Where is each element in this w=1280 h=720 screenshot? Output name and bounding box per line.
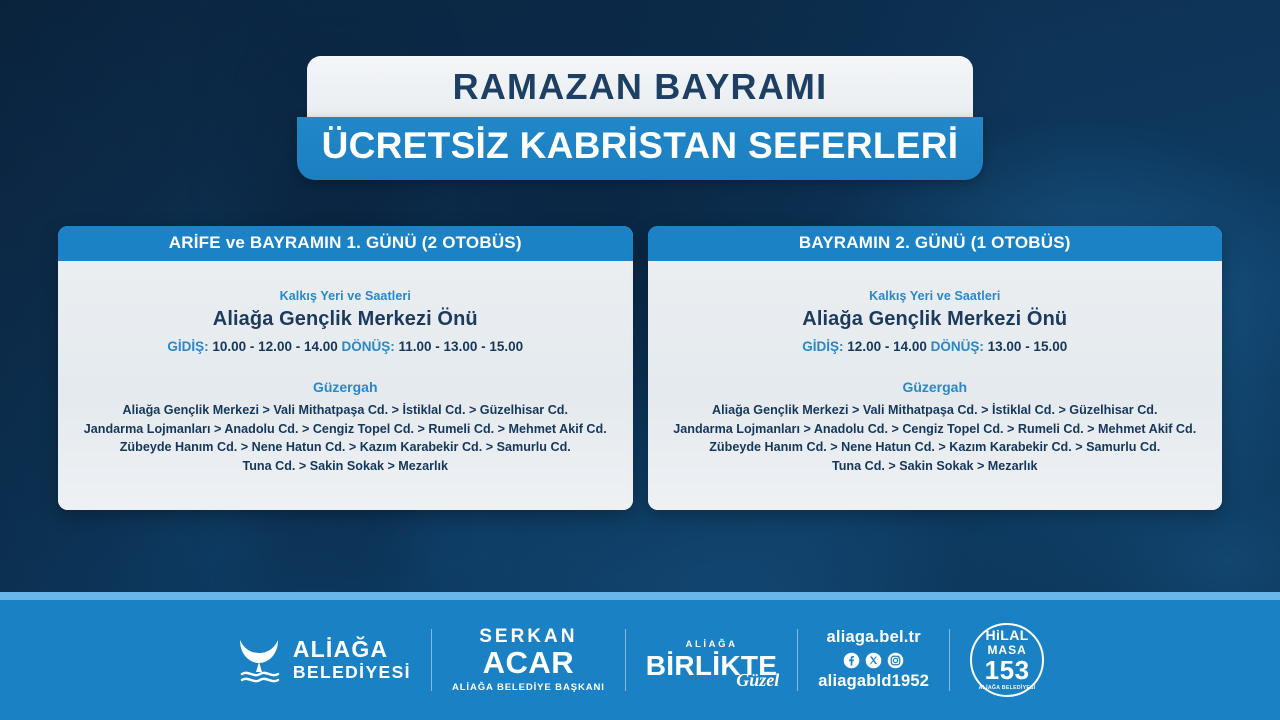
mayor-first-name: SERKAN — [452, 627, 605, 646]
outbound-times-day1: 10.00 - 12.00 - 14.00 — [212, 339, 337, 354]
schedule-cards: ARİFE ve BAYRAMIN 1. GÜNÜ (2 OTOBÜS) Kal… — [58, 226, 1222, 510]
web-and-social: aliaga.bel.tr — [798, 624, 949, 696]
route-line: Aliağa Gençlik Merkezi > Vali Mithatpaşa… — [72, 401, 619, 420]
mayor-title: ALİAĞA BELEDİYE BAŞKANI — [452, 683, 605, 693]
route-line: Jandarma Lojmanları > Anadolu Cd. > Ceng… — [662, 420, 1209, 439]
municipality-name-line2: BELEDİYESİ — [293, 664, 411, 682]
card-body-day1: Kalkış Yeri ve Saatleri Aliağa Gençlik M… — [58, 261, 633, 510]
slogan-script: Güzel — [736, 671, 779, 689]
mayor-last-name: ACAR — [452, 647, 605, 678]
route-line: Zübeyde Hanım Cd. > Nene Hatun Cd. > Kaz… — [72, 438, 619, 457]
title-line2: ÜCRETSİZ KABRİSTAN SEFERLERİ — [322, 125, 959, 166]
schedule-card-day2: BAYRAMIN 2. GÜNÜ (1 OTOBÜS) Kalkış Yeri … — [648, 226, 1223, 510]
mayor-logo: SERKAN ACAR ALİAĞA BELEDİYE BAŞKANI — [432, 624, 625, 696]
slogan-logo: ALİAĞA BİRLİKTE Güzel — [626, 624, 798, 696]
return-label-day2: DÖNÜŞ: — [931, 339, 984, 354]
card-header-day2: BAYRAMIN 2. GÜNÜ (1 OTOBÜS) — [648, 226, 1223, 261]
instagram-icon[interactable] — [887, 652, 904, 669]
footer-bar: ALİAĞA BELEDİYESİ SERKAN ACAR ALİAĞA BEL… — [0, 592, 1280, 720]
route-title-day1: Güzergah — [72, 379, 619, 395]
route-title-day2: Güzergah — [662, 379, 1209, 395]
hotline-logo: HiLAL MASA 153 ALİAĞA BELEDİYESİ — [950, 624, 1064, 696]
title-line1: RAMAZAN BAYRAMI — [453, 66, 828, 107]
title-banner: RAMAZAN BAYRAMI ÜCRETSİZ KABRİSTAN SEFER… — [0, 56, 1280, 180]
website-url[interactable]: aliaga.bel.tr — [818, 628, 929, 648]
hotline-sub: ALİAĞA BELEDİYESİ — [979, 686, 1036, 691]
times-row-day2: GİDİŞ: 12.00 - 14.00 DÖNÜŞ: 13.00 - 15.0… — [662, 339, 1209, 354]
hotline-line1: HiLAL — [986, 628, 1029, 642]
departure-place-day1: Aliağa Gençlik Merkezi Önü — [72, 308, 619, 331]
route-line: Tuna Cd. > Sakin Sokak > Mezarlık — [662, 457, 1209, 476]
return-label-day1: DÖNÜŞ: — [342, 339, 395, 354]
return-times-day2: 13.00 - 15.00 — [988, 339, 1068, 354]
departure-place-day2: Aliağa Gençlik Merkezi Önü — [662, 308, 1209, 331]
hotline-number: 153 — [985, 657, 1030, 683]
title-line1-container: RAMAZAN BAYRAMI — [307, 56, 973, 117]
card-body-day2: Kalkış Yeri ve Saatleri Aliağa Gençlik M… — [648, 261, 1223, 510]
route-line: Aliağa Gençlik Merkezi > Vali Mithatpaşa… — [662, 401, 1209, 420]
facebook-icon[interactable] — [843, 652, 860, 669]
route-line: Jandarma Lojmanları > Anadolu Cd. > Ceng… — [72, 420, 619, 439]
outbound-label-day1: GİDİŞ: — [167, 339, 208, 354]
outbound-times-day2: 12.00 - 14.00 — [847, 339, 927, 354]
slogan-top: ALİAĞA — [646, 640, 778, 650]
x-twitter-icon[interactable] — [865, 652, 882, 669]
times-row-day1: GİDİŞ: 10.00 - 12.00 - 14.00 DÖNÜŞ: 11.0… — [72, 339, 619, 354]
bird-wave-icon — [236, 636, 282, 684]
route-line: Tuna Cd. > Sakin Sokak > Mezarlık — [72, 457, 619, 476]
social-icons — [818, 652, 929, 669]
social-handle[interactable]: aliagabld1952 — [818, 672, 929, 692]
route-lines-day2: Aliağa Gençlik Merkezi > Vali Mithatpaşa… — [662, 401, 1209, 476]
municipality-name-line1: ALİAĞA — [293, 638, 411, 661]
municipality-logo: ALİAĞA BELEDİYESİ — [216, 624, 431, 696]
departure-label-day2: Kalkış Yeri ve Saatleri — [662, 289, 1209, 303]
title-line2-container: ÜCRETSİZ KABRİSTAN SEFERLERİ — [297, 117, 983, 180]
departure-label-day1: Kalkış Yeri ve Saatleri — [72, 289, 619, 303]
route-lines-day1: Aliağa Gençlik Merkezi > Vali Mithatpaşa… — [72, 401, 619, 476]
outbound-label-day2: GİDİŞ: — [802, 339, 843, 354]
card-header-day1: ARİFE ve BAYRAMIN 1. GÜNÜ (2 OTOBÜS) — [58, 226, 633, 261]
route-line: Zübeyde Hanım Cd. > Nene Hatun Cd. > Kaz… — [662, 438, 1209, 457]
return-times-day1: 11.00 - 13.00 - 15.00 — [399, 339, 524, 354]
schedule-card-day1: ARİFE ve BAYRAMIN 1. GÜNÜ (2 OTOBÜS) Kal… — [58, 226, 633, 510]
